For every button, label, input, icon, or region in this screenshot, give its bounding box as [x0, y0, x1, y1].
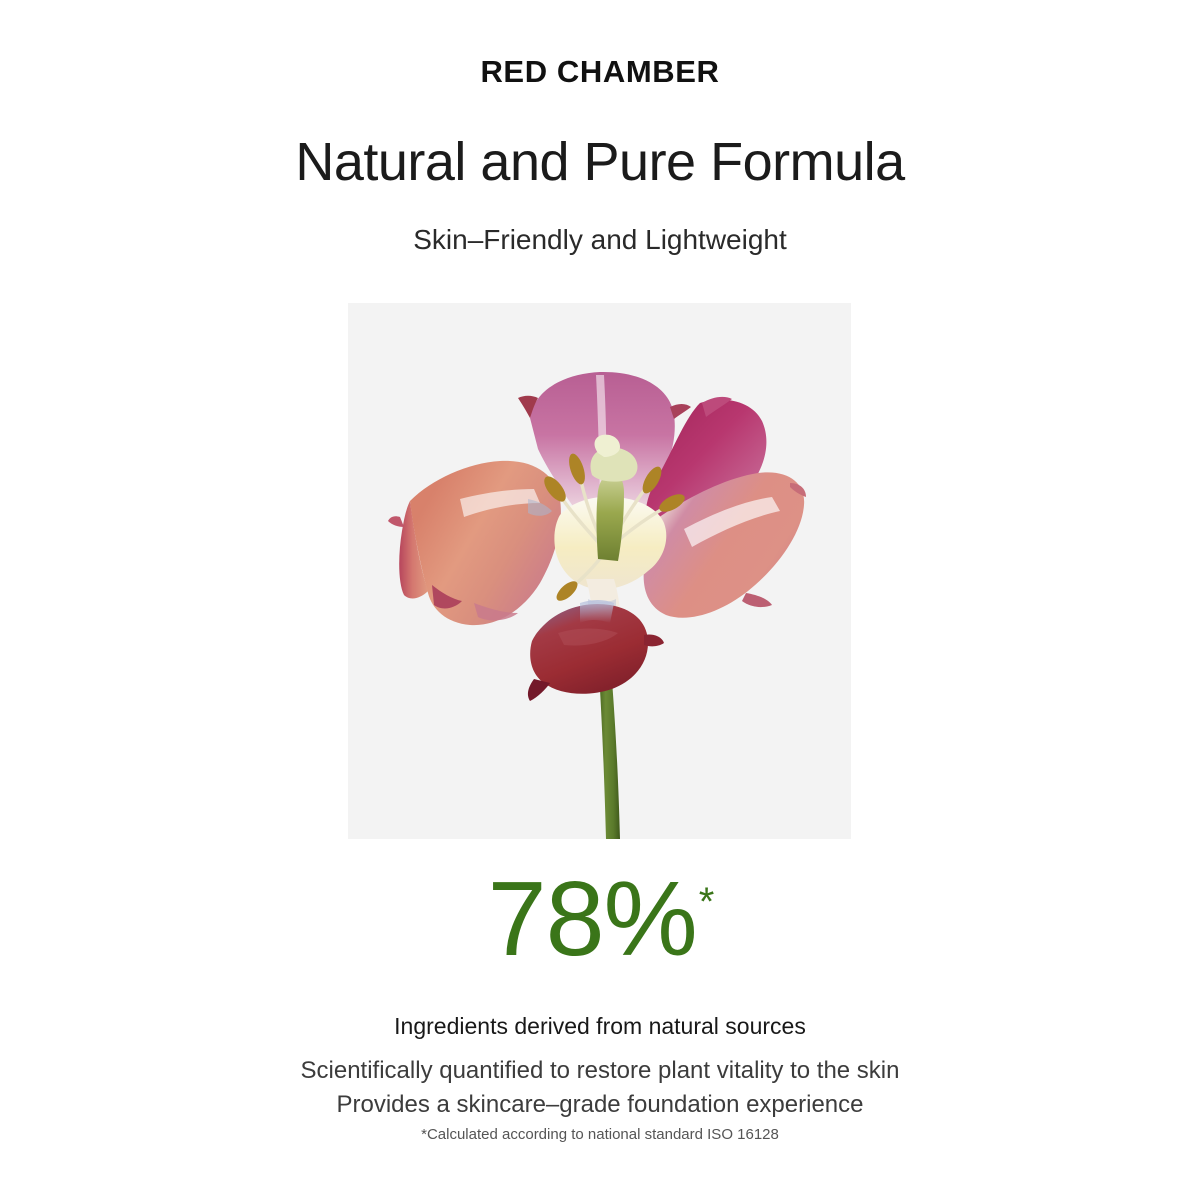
stat-caption: Ingredients derived from natural sources [0, 1013, 1200, 1041]
tulip-flower-photo [348, 303, 851, 839]
page-title: Natural and Pure Formula [0, 133, 1200, 191]
benefit-line-2: Provides a skincare–grade foundation exp… [0, 1088, 1200, 1122]
footnote: *Calculated according to national standa… [0, 1126, 1200, 1144]
stat-value: 78% [488, 860, 697, 978]
stat-asterisk: * [699, 880, 715, 924]
page-subtitle: Skin–Friendly and Lightweight [0, 224, 1200, 256]
brand-name: RED CHAMBER [0, 56, 1200, 87]
stat-block: 78%* [0, 866, 1200, 972]
hero-image-panel [348, 303, 851, 839]
benefit-lines: Scientifically quantified to restore pla… [0, 1054, 1200, 1122]
benefit-line-1: Scientifically quantified to restore pla… [0, 1054, 1200, 1088]
product-detail-page: RED CHAMBER Natural and Pure Formula Ski… [0, 0, 1200, 1200]
